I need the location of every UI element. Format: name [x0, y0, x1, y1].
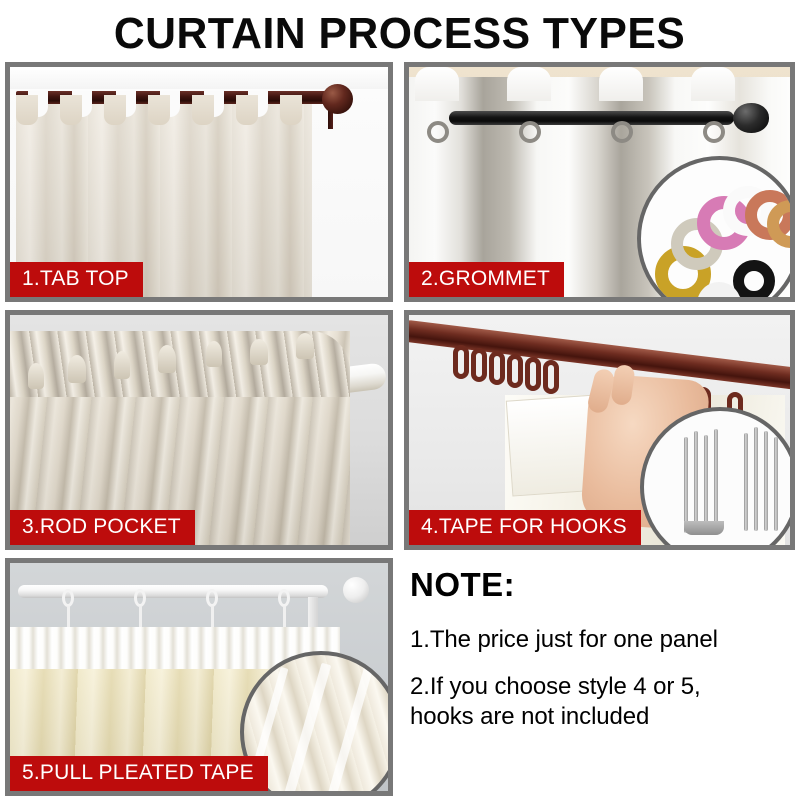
curtain-tab: [104, 95, 126, 125]
hook-stem: [283, 606, 286, 628]
note-line-2b: hooks are not included: [410, 703, 649, 730]
panel-tape-for-hooks: 4.TAPE FOR HOOKS: [404, 310, 795, 550]
curtain-ring: [471, 348, 487, 382]
grommet-scallop: [415, 67, 459, 101]
grommet-ring: [519, 121, 541, 143]
curtain-ring: [489, 351, 505, 385]
tape-cord: [279, 663, 332, 791]
grommet-scallop: [507, 67, 551, 101]
note-line-2: 2.If you choose style 4 or 5, hooks are …: [410, 672, 796, 731]
hook-prong: [754, 427, 758, 531]
grommet-ring: [611, 121, 633, 143]
grommet-ring-black: [733, 260, 775, 297]
panel-rod-pocket: 3.ROD POCKET: [5, 310, 393, 550]
gather-peak: [296, 333, 314, 359]
panel-caption-tab-top: 1.TAB TOP: [10, 262, 143, 297]
hook-prong: [714, 429, 718, 533]
hook-prong: [704, 435, 708, 533]
hook-prong: [744, 433, 748, 531]
panel-caption-rod-pocket: 3.ROD POCKET: [10, 510, 195, 545]
hook-prong: [694, 431, 698, 531]
curtain-ring: [543, 360, 559, 394]
curtain-ring: [453, 345, 469, 379]
curtain-rod: [449, 111, 734, 125]
hook-base: [684, 521, 724, 535]
curtain-tab: [236, 95, 258, 125]
panel-pull-pleated-tape: 5.PULL PLEATED TAPE: [5, 558, 393, 796]
curtain-tab: [192, 95, 214, 125]
page-title-text: CURTAIN PROCESS TYPES: [114, 9, 685, 59]
rod-finial: [343, 577, 369, 603]
panel-tab-top: 1.TAB TOP: [5, 62, 393, 302]
note-line-1: 1.The price just for one panel: [410, 625, 796, 654]
hook-prong: [774, 437, 778, 531]
note-line-2a: 2.If you choose style 4 or 5,: [410, 673, 701, 700]
hook-ring: [278, 589, 290, 607]
grommet-ring: [703, 121, 725, 143]
gather-peak: [158, 345, 176, 373]
hook-ring: [134, 589, 146, 607]
grommet-scallop: [599, 67, 643, 101]
curtain-process-types-infographic: CURTAIN PROCESS TYPES 1.TAB TOP: [0, 0, 800, 800]
hook-prong: [684, 437, 688, 533]
hook-prong: [764, 431, 768, 531]
panel-grommet: 2.GROMMET: [404, 62, 795, 302]
curtain-tab: [60, 95, 82, 125]
gather-peak: [68, 355, 86, 383]
gather-peak: [206, 341, 222, 367]
curtain-ring: [507, 354, 523, 388]
hook-ring: [62, 589, 74, 607]
hook-stem: [139, 606, 142, 628]
tape-cord: [322, 661, 374, 791]
hook-ring: [206, 589, 218, 607]
curtain-ring: [525, 357, 541, 391]
page-title: CURTAIN PROCESS TYPES: [0, 8, 800, 60]
note-block: NOTE: 1.The price just for one panel 2.I…: [410, 566, 796, 796]
curtain-tab: [16, 95, 38, 125]
rod-finial: [733, 103, 769, 133]
gather-peak: [250, 339, 268, 365]
curtain-tab: [148, 95, 170, 125]
gather-peak: [114, 351, 130, 379]
curtain-tab: [280, 95, 302, 125]
panel-caption-tape-for-hooks: 4.TAPE FOR HOOKS: [409, 510, 641, 545]
hook-stem: [67, 606, 70, 628]
gather-peak: [28, 363, 44, 389]
panel-caption-grommet: 2.GROMMET: [409, 262, 564, 297]
note-title: NOTE:: [410, 566, 796, 604]
grommet-scallop: [691, 67, 735, 101]
rod-finial: [322, 84, 353, 114]
grommet-ring: [427, 121, 449, 143]
hook-stem: [211, 606, 214, 628]
panel-caption-pull-pleated-tape: 5.PULL PLEATED TAPE: [10, 756, 268, 791]
